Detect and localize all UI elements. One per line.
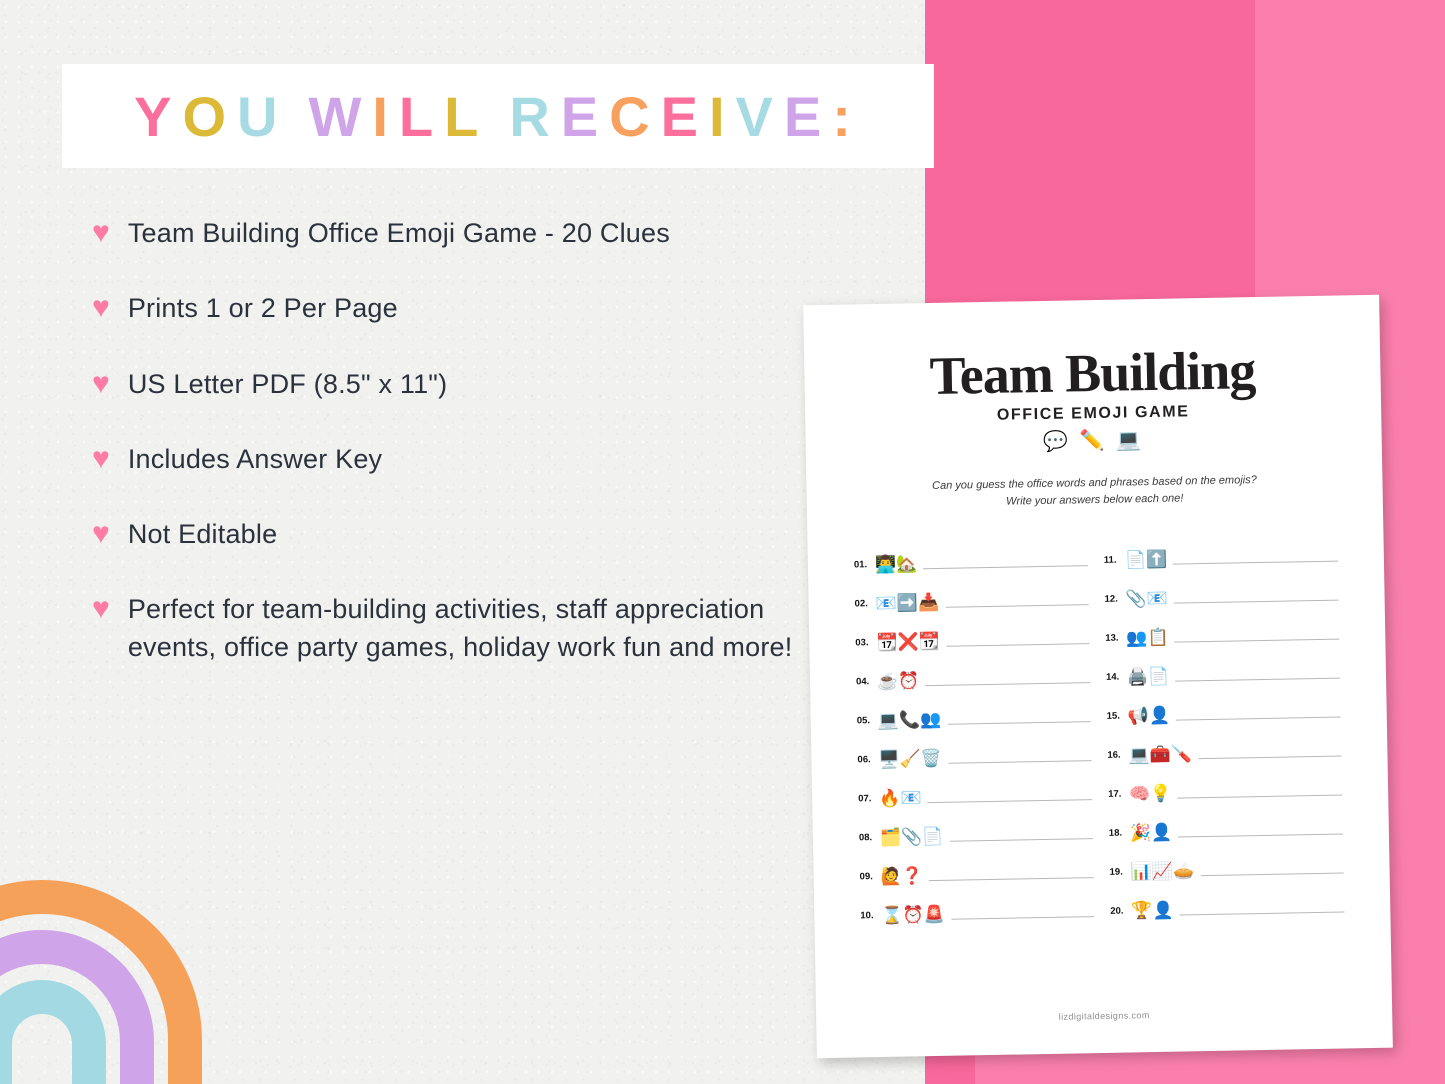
clue-number: 03. [855, 637, 876, 653]
title-letter-14: V [736, 84, 784, 149]
clue-row: 15.📢👤 [1106, 684, 1341, 727]
title-letter-13: I [709, 84, 736, 149]
feature-list: ♥Team Building Office Emoji Game - 20 Cl… [92, 215, 832, 704]
clue-answer-line[interactable] [928, 799, 1093, 803]
title-letter-12: E [661, 84, 709, 149]
clue-row: 12.📎📧 [1104, 567, 1339, 610]
feature-list-item-label: Prints 1 or 2 Per Page [128, 290, 398, 327]
clue-number: 02. [855, 598, 876, 614]
clue-row: 05.💻📞👥 [856, 688, 1091, 731]
heart-icon: ♥ [92, 293, 110, 323]
clue-number: 05. [857, 715, 878, 731]
clue-row: 03.📆❌📆 [855, 610, 1090, 653]
clue-answer-line[interactable] [1200, 873, 1343, 877]
clue-number: 14. [1106, 671, 1127, 687]
clue-emoji-group: 📆❌📆 [876, 633, 940, 653]
clue-answer-line[interactable] [1173, 561, 1338, 565]
clue-row: 02.📧➡️📥 [854, 571, 1089, 614]
title-letter-0: Y [134, 84, 182, 149]
clue-emoji-group: 🖨️📄 [1127, 668, 1170, 688]
clue-answer-line[interactable] [950, 838, 1093, 842]
clue-number: 17. [1108, 788, 1129, 804]
title-letter-16: : [832, 84, 862, 149]
clue-row: 10.⌛⏰🚨 [860, 883, 1095, 926]
title-letter-2: U [237, 84, 288, 149]
clue-emoji-group: 🎉👤 [1130, 824, 1173, 844]
clue-row: 19.📊📈🥧 [1109, 840, 1344, 883]
clue-emoji-group: 🖥️🧹🗑️ [878, 750, 942, 770]
title-letter-7: L [444, 84, 489, 149]
clue-number: 07. [858, 793, 879, 809]
clue-answer-line[interactable] [925, 682, 1090, 686]
clue-number: 10. [860, 910, 881, 926]
clue-emoji-group: 🔥📧 [879, 789, 922, 809]
clue-columns: 01.👨‍💻🏡02.📧➡️📥03.📆❌📆04.☕⏰05.💻📞👥06.🖥️🧹🗑️0… [841, 527, 1356, 926]
clue-emoji-group: 👨‍💻🏡 [875, 555, 918, 575]
clue-answer-line[interactable] [1180, 912, 1345, 916]
feature-list-item-label: Not Editable [128, 516, 278, 553]
worksheet-footer: lizdigitaldesigns.com [816, 1006, 1392, 1027]
clue-emoji-group: 📢👤 [1128, 707, 1171, 727]
feature-list-item: ♥Not Editable [92, 516, 832, 553]
clue-row: 13.👥📋 [1105, 606, 1340, 649]
feature-list-item-label: Team Building Office Emoji Game - 20 Clu… [128, 215, 670, 252]
title-letter-15: E [784, 84, 832, 149]
clue-row: 14.🖨️📄 [1105, 645, 1340, 688]
clue-answer-line[interactable] [929, 877, 1094, 881]
feature-list-item: ♥Prints 1 or 2 Per Page [92, 290, 832, 327]
clue-row: 09.🙋❓ [859, 844, 1094, 887]
worksheet-subtitle: OFFICE EMOJI GAME [839, 400, 1347, 427]
header-banner: YOUWILLRECEIVE: [62, 64, 934, 168]
feature-list-item: ♥US Letter PDF (8.5" x 11") [92, 366, 832, 403]
clue-answer-line[interactable] [946, 643, 1089, 647]
clue-number: 19. [1109, 866, 1130, 882]
clue-row: 18.🎉👤 [1108, 801, 1343, 844]
worksheet-instructions: Can you guess the office words and phras… [840, 470, 1349, 512]
feature-list-item-label: Perfect for team-building activities, st… [128, 591, 832, 666]
title-letter-9: R [509, 84, 560, 149]
clue-row: 07.🔥📧 [858, 766, 1093, 809]
feature-list-item: ♥Includes Answer Key [92, 441, 832, 478]
clue-number: 15. [1107, 710, 1128, 726]
clue-column-right: 11.📄⬆️12.📎📧13.👥📋14.🖨️📄15.📢👤16.💻🧰🪛17.🧠💡18… [1103, 528, 1344, 922]
clue-answer-line[interactable] [951, 916, 1094, 920]
clue-row: 01.👨‍💻🏡 [853, 532, 1088, 575]
clue-row: 20.🏆👤 [1110, 879, 1345, 922]
clue-emoji-group: 💻📞👥 [878, 711, 942, 731]
worksheet-header-icons: 💬 ✏️ 💻 [839, 423, 1347, 457]
clue-emoji-group: 👥📋 [1126, 629, 1169, 649]
clue-number: 11. [1104, 554, 1125, 570]
clue-number: 09. [860, 871, 881, 887]
clue-row: 06.🖥️🧹🗑️ [857, 727, 1092, 770]
title-letter-10: E [561, 84, 609, 149]
page-title: YOUWILLRECEIVE: [134, 84, 862, 149]
worksheet-title: Team Building [838, 341, 1347, 404]
clue-row: 17.🧠💡 [1108, 762, 1343, 805]
clue-row: 04.☕⏰ [856, 649, 1091, 692]
title-letter-4: W [308, 84, 372, 149]
clue-emoji-group: 📎📧 [1125, 590, 1168, 610]
title-letter-3 [288, 84, 308, 149]
clue-row: 11.📄⬆️ [1103, 528, 1338, 571]
feature-list-item-label: US Letter PDF (8.5" x 11") [128, 366, 447, 403]
heart-icon: ♥ [92, 594, 110, 624]
clue-emoji-group: 🙋❓ [880, 867, 923, 887]
heart-icon: ♥ [92, 218, 110, 248]
heart-icon: ♥ [92, 519, 110, 549]
clue-answer-line[interactable] [1176, 717, 1341, 721]
title-letter-8 [489, 84, 509, 149]
clue-answer-line[interactable] [1178, 795, 1343, 799]
clue-row: 16.💻🧰🪛 [1107, 723, 1342, 766]
clue-number: 18. [1109, 827, 1130, 843]
clue-answer-line[interactable] [1175, 639, 1340, 643]
feature-list-item: ♥Perfect for team-building activities, s… [92, 591, 832, 666]
clue-answer-line[interactable] [1174, 600, 1339, 604]
worksheet-preview: Team Building OFFICE EMOJI GAME 💬 ✏️ 💻 C… [803, 295, 1393, 1058]
title-letter-6: L [399, 84, 444, 149]
clue-answer-line[interactable] [948, 760, 1091, 764]
clue-answer-line[interactable] [1175, 678, 1340, 682]
clue-number: 20. [1110, 905, 1131, 921]
clue-emoji-group: 📊📈🥧 [1130, 862, 1194, 882]
clue-number: 13. [1105, 632, 1126, 648]
clue-answer-line[interactable] [923, 565, 1088, 569]
title-letter-11: C [609, 84, 660, 149]
clue-number: 08. [859, 832, 880, 848]
clue-number: 06. [857, 754, 878, 770]
clue-emoji-group: 📄⬆️ [1125, 551, 1168, 571]
title-letter-1: O [182, 84, 237, 149]
clue-answer-line[interactable] [1178, 834, 1343, 838]
heart-icon: ♥ [92, 369, 110, 399]
clue-emoji-group: 🗂️📎📄 [880, 828, 944, 848]
clue-number: 12. [1104, 593, 1125, 609]
clue-emoji-group: ⌛⏰🚨 [881, 906, 945, 926]
clue-emoji-group: 💻🧰🪛 [1128, 745, 1192, 765]
clue-emoji-group: 📧➡️📥 [875, 594, 939, 614]
feature-list-item: ♥Team Building Office Emoji Game - 20 Cl… [92, 215, 832, 252]
clue-emoji-group: ☕⏰ [877, 672, 920, 692]
clue-number: 16. [1107, 749, 1128, 765]
heart-icon: ♥ [92, 444, 110, 474]
feature-list-item-label: Includes Answer Key [128, 441, 382, 478]
clue-row: 08.🗂️📎📄 [858, 805, 1093, 848]
clue-emoji-group: 🏆👤 [1131, 902, 1174, 922]
clue-number: 01. [854, 559, 875, 575]
clue-answer-line[interactable] [1198, 756, 1341, 760]
clue-answer-line[interactable] [947, 721, 1090, 725]
clue-column-left: 01.👨‍💻🏡02.📧➡️📥03.📆❌📆04.☕⏰05.💻📞👥06.🖥️🧹🗑️0… [853, 532, 1094, 926]
clue-number: 04. [856, 676, 877, 692]
clue-emoji-group: 🧠💡 [1129, 785, 1172, 805]
title-letter-5: I [372, 84, 399, 149]
clue-answer-line[interactable] [945, 604, 1088, 608]
